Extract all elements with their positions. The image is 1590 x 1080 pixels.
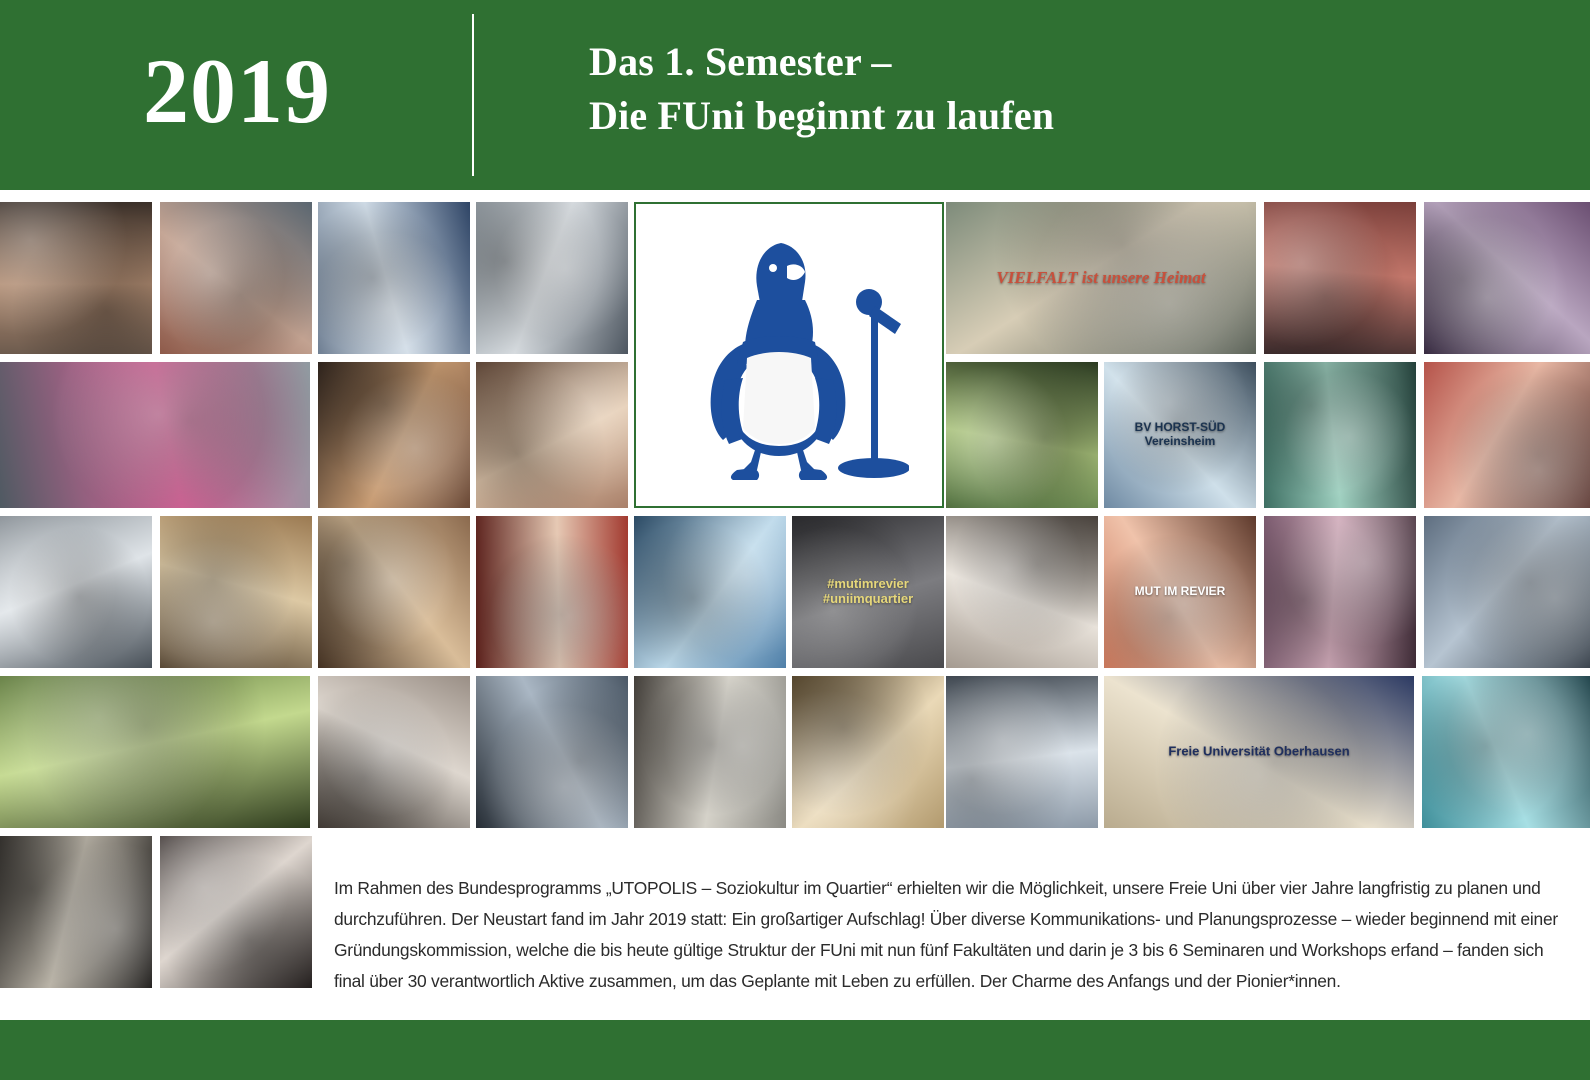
- photo-canal-street-festival: [634, 516, 786, 668]
- photo-texture: [160, 836, 312, 988]
- photo-3d-printer-demonstration: [476, 676, 628, 828]
- photo-workshop-sewing-outdoors: [1424, 202, 1590, 354]
- photo-texture: [1264, 202, 1416, 354]
- photo-texture: [160, 202, 312, 354]
- photo-texture: [476, 202, 628, 354]
- header-title-line-1: Das 1. Semester –: [589, 35, 1590, 89]
- photo-freie-universitaet-oberhausen-flyer: Freie Universität Oberhausen: [1104, 676, 1414, 828]
- photo-texture: [318, 202, 470, 354]
- photo-texture: [1264, 362, 1416, 508]
- photo-woman-holding-certificate-hallway: [1264, 516, 1416, 668]
- footer-accent-bar: [0, 1020, 1590, 1080]
- year-block: 2019: [0, 0, 474, 190]
- photo-texture: [318, 516, 470, 668]
- photo-texture: [0, 362, 310, 508]
- page-header: 2019 Das 1. Semester – Die FUni beginnt …: [0, 0, 1590, 190]
- photo-texture: [0, 516, 152, 668]
- photo-texture: [634, 516, 786, 668]
- pigeon-with-microphone-logo: [634, 202, 944, 508]
- photo-texture: [0, 836, 152, 988]
- photo-man-reading-brochure: [946, 676, 1098, 828]
- description-paragraph: Im Rahmen des Bundesprogramms „UTOPOLIS …: [334, 873, 1578, 997]
- header-title-line-2: Die FUni beginnt zu laufen: [589, 89, 1590, 143]
- photo-texture: [1104, 676, 1414, 828]
- photo-posters-on-wall-offside: [1264, 362, 1416, 508]
- photo-tshirt-pigeon-print: [318, 202, 470, 354]
- photo-texture: [634, 676, 786, 828]
- photo-long-table-workshop-dinner: [318, 362, 470, 508]
- photo-texture: [1424, 362, 1590, 508]
- photo-rooftop-laptop-meeting: [476, 202, 628, 354]
- photo-urban-gardening-digging: [0, 676, 310, 828]
- photo-texture: [792, 516, 944, 668]
- photo-asphalt-hashtag-stencil: #mutimrevier #uniimquartier: [792, 516, 944, 668]
- photo-texture: [946, 676, 1098, 828]
- photo-texture: [318, 362, 470, 508]
- photo-black-box-theatre-sitting-group: [0, 836, 152, 988]
- photo-presentation-room-projector: [160, 516, 312, 668]
- photo-exhibition-hall-visitors: [0, 516, 152, 668]
- photo-four-people-with-drinks-red-arrow: [160, 836, 312, 988]
- photo-texture: [476, 676, 628, 828]
- photo-texture: [476, 362, 628, 508]
- photo-group-posing-whiteboard-posters: [946, 516, 1098, 668]
- photo-texture: [1424, 516, 1590, 668]
- photo-bv-horst-sued-vereinsheim: BV HORST-SÜD Vereinsheim: [1104, 362, 1256, 508]
- photo-family-with-prints-smiling: [1424, 362, 1590, 508]
- photo-texture: [1104, 516, 1256, 668]
- photo-indoor-group-standing: [318, 676, 470, 828]
- photo-street-performance-dancers: [1264, 202, 1416, 354]
- photo-workshop-painting-table: [0, 202, 152, 354]
- photo-mut-im-revier-banner-group: MUT IM REVIER: [1104, 516, 1256, 668]
- header-title-block: Das 1. Semester – Die FUni beginnt zu la…: [474, 0, 1590, 184]
- photo-texture: [1424, 202, 1590, 354]
- photo-texture: [946, 362, 1098, 508]
- photo-texture: [946, 516, 1098, 668]
- photo-cafe-seminar-room: [792, 676, 944, 828]
- photo-texture: [318, 676, 470, 828]
- photo-texture: [792, 676, 944, 828]
- photo-texture: [1104, 362, 1256, 508]
- pigeon-icon: [669, 230, 909, 480]
- photo-texture: [476, 516, 628, 668]
- photo-graffiti-wall-viel-heart: [0, 362, 310, 508]
- photo-texture: [0, 202, 152, 354]
- poster-page: 2019 Das 1. Semester – Die FUni beginnt …: [0, 0, 1590, 1080]
- photo-texture: [1264, 516, 1416, 668]
- photo-texture: [160, 516, 312, 668]
- photo-street-crowd-cobblestone: [634, 676, 786, 828]
- photo-group-photo-park-red-shirts: [946, 362, 1098, 508]
- photo-banner-vielfalt-ist-unsere-heimat: VIELFALT ist unsere Heimat: [946, 202, 1256, 354]
- photo-group-portrait-brick-building: [160, 202, 312, 354]
- page-title-year: 2019: [143, 45, 331, 137]
- photo-texture: [946, 202, 1256, 354]
- photo-red-room-gallery-display: [476, 516, 628, 668]
- photo-texture: [1422, 676, 1590, 828]
- photo-workshop-table-coffee-pot: [318, 516, 470, 668]
- photo-texture: [0, 676, 310, 828]
- photo-man-seated-with-papers: [1424, 516, 1590, 668]
- photo-graffiti-spraying-artist: [1422, 676, 1590, 828]
- photo-hands-linocut-printing: [476, 362, 628, 508]
